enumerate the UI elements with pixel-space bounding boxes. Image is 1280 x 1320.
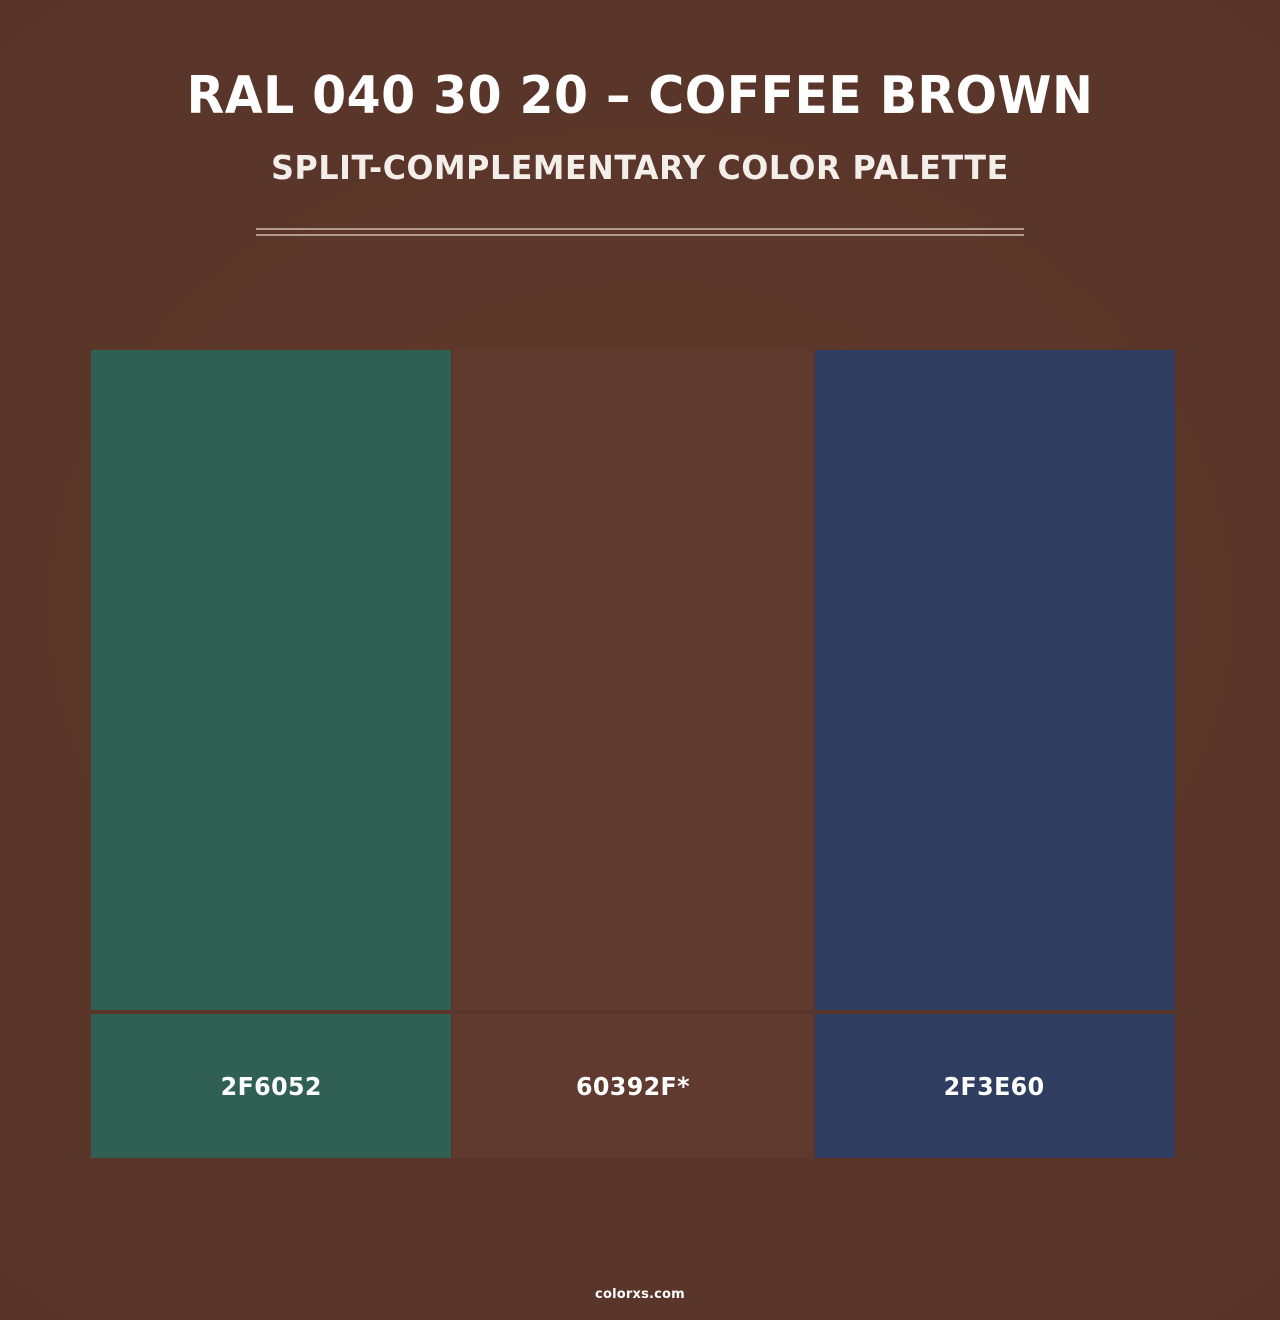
footer: colorxs.com: [0, 1283, 1280, 1302]
title-divider: [256, 228, 1024, 236]
swatch-hex-label-2: 60392F*: [576, 1072, 690, 1101]
header: RAL 040 30 20 – COFFEE BROWN SPLIT-COMPL…: [0, 66, 1280, 188]
page-subtitle: SPLIT-COMPLEMENTARY COLOR PALETTE: [26, 148, 1255, 188]
site-credit: colorxs.com: [595, 1287, 685, 1302]
swatch-hex-label-1: 2F6052: [221, 1072, 322, 1101]
swatch-hex-label-3: 2F3E60: [944, 1072, 1045, 1101]
swatch-label-box-3[interactable]: 2F3E60: [814, 1014, 1175, 1158]
swatch-label-box-1[interactable]: 2F6052: [91, 1014, 452, 1158]
swatch-color-block-3[interactable]: [814, 350, 1175, 1010]
swatch-column-1[interactable]: 2F6052: [91, 350, 452, 1158]
palette-swatch-grid: 2F6052 60392F* 2F3E60: [91, 350, 1175, 1158]
column-separator-1: [451, 350, 453, 1158]
color-palette-page: RAL 040 30 20 – COFFEE BROWN SPLIT-COMPL…: [0, 0, 1280, 1320]
swatch-column-3[interactable]: 2F3E60: [814, 350, 1175, 1158]
page-title: RAL 040 30 20 – COFFEE BROWN: [38, 66, 1241, 126]
divider-rule-top: [256, 228, 1024, 230]
swatch-column-2[interactable]: 60392F*: [452, 350, 814, 1158]
swatch-color-block-1[interactable]: [91, 350, 452, 1010]
swatch-color-block-2[interactable]: [452, 350, 814, 1010]
swatch-label-box-2[interactable]: 60392F*: [452, 1014, 814, 1158]
column-separator-2: [813, 350, 815, 1158]
divider-rule-bottom: [256, 234, 1024, 236]
